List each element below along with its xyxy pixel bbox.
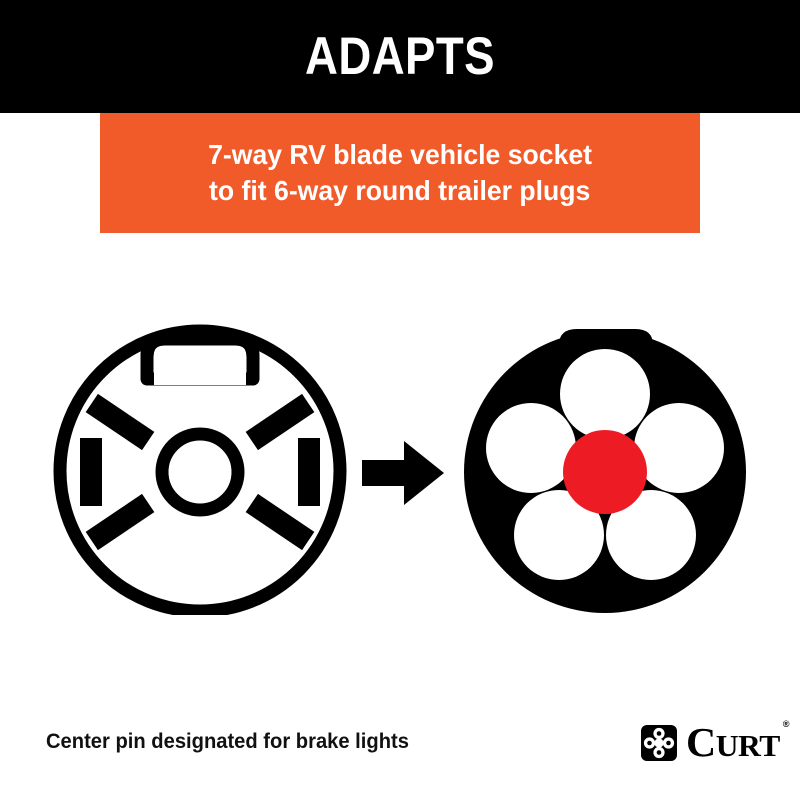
curt-logo: CURT® [641, 722, 778, 763]
curt-clover-logo-icon [641, 725, 677, 761]
subtitle-line-1: 7-way RV blade vehicle socket [208, 137, 592, 173]
center-pin-brake-light [563, 430, 647, 514]
page-title: ADAPTS [56, 0, 744, 113]
curt-wordmark-rest: URT [716, 728, 780, 763]
curt-wordmark: CURT® [686, 722, 780, 763]
footer-note: Center pin designated for brake lights [46, 728, 409, 756]
subtitle-band: 7-way RV blade vehicle socket to fit 6-w… [100, 113, 700, 233]
arrow-right-icon [358, 438, 448, 508]
subtitle-line-2: to fit 6-way round trailer plugs [209, 173, 590, 209]
socket-comparison-diagram [0, 250, 800, 670]
header-band: ADAPTS [0, 0, 800, 113]
seven-way-blade-socket-icon [45, 305, 355, 615]
product-graphic: ADAPTS 7-way RV blade vehicle socket to … [0, 0, 800, 800]
curt-wordmark-cap: C [686, 719, 716, 765]
six-way-round-plug-icon [450, 305, 760, 615]
footer: Center pin designated for brake lights [0, 700, 800, 800]
curt-trademark-symbol: ® [783, 720, 789, 729]
